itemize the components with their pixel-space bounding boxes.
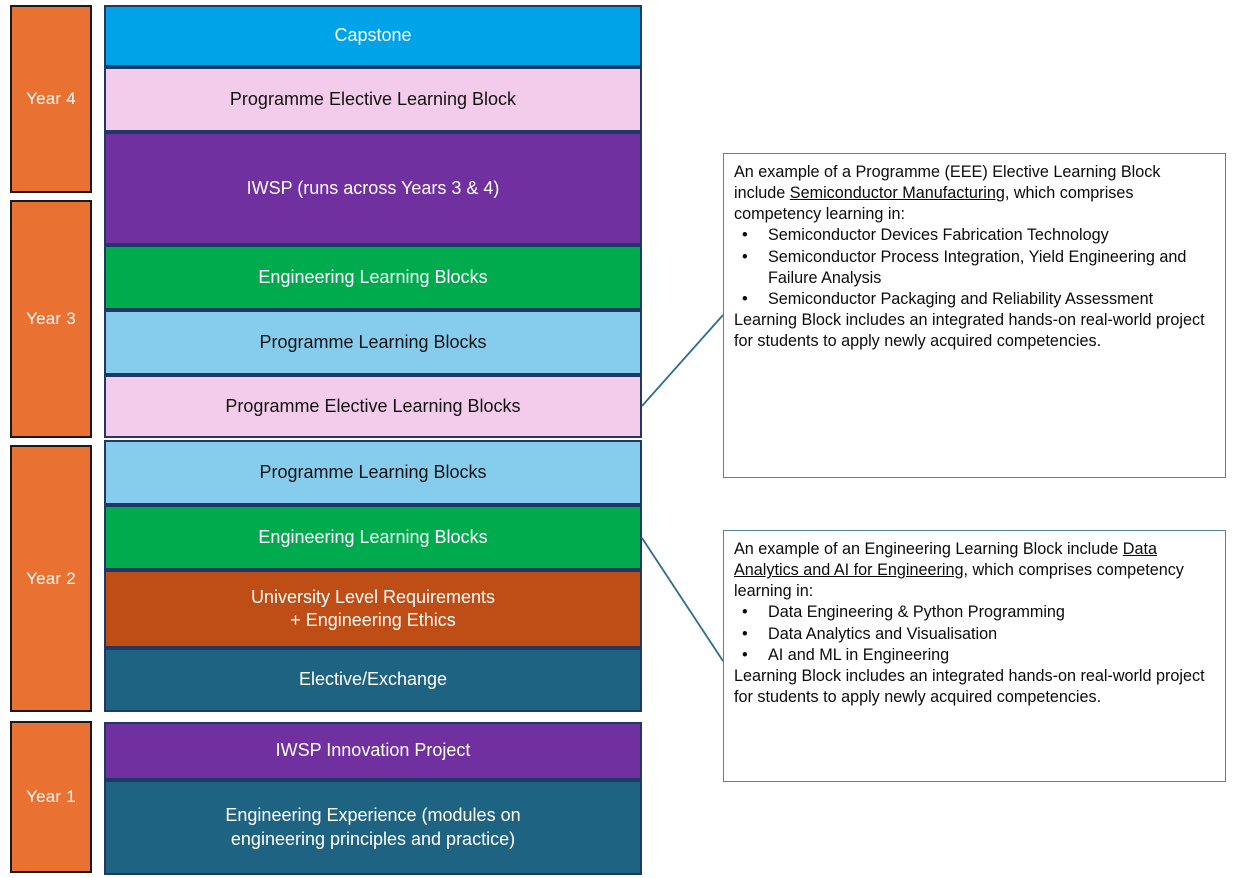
engineering-learning-callout: An example of an Engineering Learning Bl… — [723, 530, 1226, 782]
year-label-text: Year 3 — [26, 309, 76, 329]
learning-block-label: Engineering Learning Blocks — [258, 266, 487, 289]
year-label-text: Year 1 — [26, 787, 76, 807]
learning-block-label-line1: University Level Requirements — [251, 586, 495, 609]
learning-block-label: IWSP (runs across Years 3 & 4) — [247, 177, 500, 200]
year-label-text: Year 4 — [26, 89, 76, 109]
learning-block-label: Capstone — [334, 24, 411, 47]
callout-highlight-term: Semiconductor Manufacturing — [790, 184, 1005, 202]
learning-block[interactable]: Programme Learning Blocks — [104, 440, 642, 505]
learning-block-label: Programme Learning Blocks — [259, 461, 486, 484]
learning-block-label: Programme Elective Learning Block — [230, 88, 516, 111]
callout-bullet-item: AI and ML in Engineering — [734, 645, 1215, 666]
learning-block-label-line1: Programme Learning Blocks — [259, 461, 486, 484]
learning-block[interactable]: Capstone — [104, 5, 642, 67]
learning-block-label-line1: Capstone — [334, 24, 411, 47]
learning-block-label: Engineering Experience (modules onengine… — [225, 804, 520, 851]
callout-closing-text: Learning Block includes an integrated ha… — [734, 666, 1215, 708]
callout-bullet-item: Semiconductor Process Integration, Yield… — [734, 247, 1215, 289]
learning-block-label: Elective/Exchange — [299, 668, 447, 691]
learning-block[interactable]: University Level Requirements+ Engineeri… — [104, 570, 642, 648]
learning-block-label-line1: Engineering Learning Blocks — [258, 266, 487, 289]
learning-block[interactable]: Engineering Learning Blocks — [104, 505, 642, 570]
learning-block[interactable]: Programme Elective Learning Blocks — [104, 375, 642, 438]
learning-block[interactable]: IWSP Innovation Project — [104, 722, 642, 780]
callout-closing-text: Learning Block includes an integrated ha… — [734, 310, 1215, 352]
learning-block-label: University Level Requirements+ Engineeri… — [251, 586, 495, 633]
learning-block-label-line1: Programme Learning Blocks — [259, 331, 486, 354]
year-label-2: Year 2 — [10, 445, 92, 712]
learning-block-label: Engineering Learning Blocks — [258, 526, 487, 549]
learning-block[interactable]: IWSP (runs across Years 3 & 4) — [104, 132, 642, 245]
callout-bullet-item: Semiconductor Devices Fabrication Techno… — [734, 225, 1215, 246]
year-label-1: Year 1 — [10, 721, 92, 873]
connector-programme-elective — [642, 315, 723, 406]
learning-block[interactable]: Elective/Exchange — [104, 648, 642, 712]
year-label-4: Year 4 — [10, 5, 92, 193]
learning-block-label-line2: engineering principles and practice) — [225, 828, 520, 851]
callout-bullet-item: Semiconductor Packaging and Reliability … — [734, 289, 1215, 310]
callout-intro-before: An example of an Engineering Learning Bl… — [734, 540, 1123, 558]
callout-bullet-item: Data Engineering & Python Programming — [734, 602, 1215, 623]
learning-block-label-line1: Programme Elective Learning Blocks — [225, 395, 520, 418]
learning-block-label-line1: Elective/Exchange — [299, 668, 447, 691]
learning-block-label: Programme Elective Learning Blocks — [225, 395, 520, 418]
callout-intro: An example of a Programme (EEE) Elective… — [734, 162, 1215, 225]
learning-block-label-line1: Programme Elective Learning Block — [230, 88, 516, 111]
learning-block[interactable]: Programme Learning Blocks — [104, 310, 642, 375]
callout-bullet-list: Semiconductor Devices Fabrication Techno… — [734, 225, 1215, 310]
learning-block-label-line1: IWSP (runs across Years 3 & 4) — [247, 177, 500, 200]
learning-block-label: IWSP Innovation Project — [276, 739, 471, 762]
learning-block-label-line1: IWSP Innovation Project — [276, 739, 471, 762]
learning-block-label: Programme Learning Blocks — [259, 331, 486, 354]
learning-block-label-line1: Engineering Learning Blocks — [258, 526, 487, 549]
learning-block[interactable]: Engineering Learning Blocks — [104, 245, 642, 310]
programme-elective-callout: An example of a Programme (EEE) Elective… — [723, 153, 1226, 478]
learning-block-label-line2: + Engineering Ethics — [251, 609, 495, 632]
learning-block-label-line1: Engineering Experience (modules on — [225, 804, 520, 827]
learning-block[interactable]: Programme Elective Learning Block — [104, 67, 642, 132]
year-label-3: Year 3 — [10, 200, 92, 438]
callout-bullet-list: Data Engineering & Python ProgrammingDat… — [734, 602, 1215, 665]
callout-intro: An example of an Engineering Learning Bl… — [734, 539, 1215, 602]
callout-bullet-item: Data Analytics and Visualisation — [734, 624, 1215, 645]
year-label-text: Year 2 — [26, 569, 76, 589]
learning-block[interactable]: Engineering Experience (modules onengine… — [104, 780, 642, 875]
connector-engineering-block — [642, 538, 723, 661]
programme-structure-diagram: Year 4Year 3Year 2Year 1 CapstoneProgram… — [0, 0, 1244, 878]
